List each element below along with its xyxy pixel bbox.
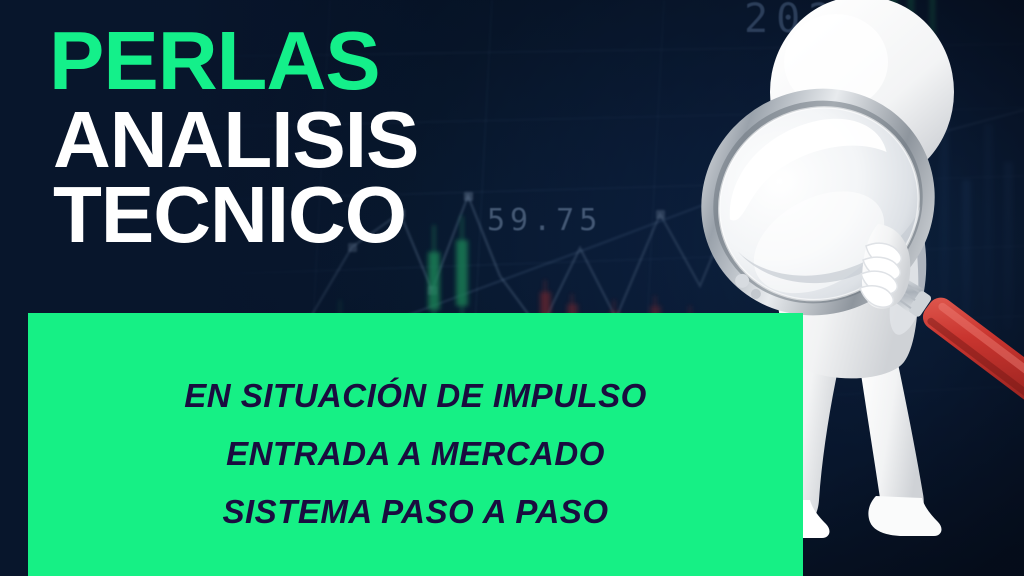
title-line-perlas: PERLAS xyxy=(49,22,418,99)
subtitle-line-3: SISTEMA PASO A PASO xyxy=(223,493,609,531)
subtitle-panel: EN SITUACIÓN DE IMPULSO ENTRADA A MERCAD… xyxy=(28,313,803,576)
background-price-label: 59.75 xyxy=(487,203,602,238)
headline-block: PERLAS ANALISIS TECNICO xyxy=(49,22,418,252)
magnifier-handle xyxy=(918,292,1024,437)
thumbnail-canvas: 59.75 202 xyxy=(0,0,1024,576)
title-line-tecnico: TECNICO xyxy=(53,178,418,252)
subtitle-line-2: ENTRADA A MERCADO xyxy=(226,435,605,473)
title-line-analisis: ANALISIS xyxy=(53,103,418,177)
subtitle-line-1: EN SITUACIÓN DE IMPULSO xyxy=(184,377,647,415)
